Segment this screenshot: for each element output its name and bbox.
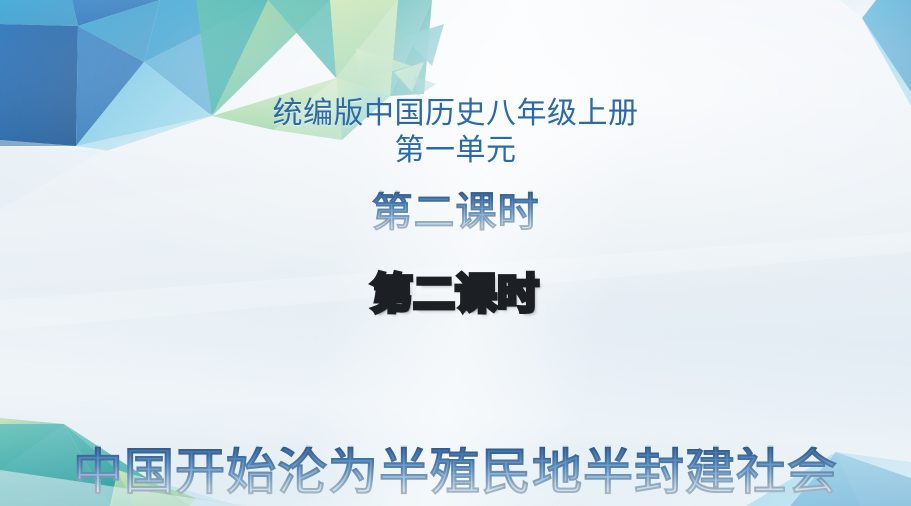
subtitle-textbook-line: 统编版中国历史八年级上册: [273, 97, 639, 132]
lesson-number-title-outline: 第二课时: [372, 274, 540, 315]
title-slide: 统编版中国历史八年级上册 第一单元 第二课时 第二课时 中国开始沦为半殖民地半封…: [0, 0, 911, 506]
main-title: 中国开始沦为半殖民地半封建社会 中国开始沦为半殖民地半封建社会: [73, 447, 838, 506]
slide-content: 统编版中国历史八年级上册 第一单元 第二课时 第二课时 中国开始沦为半殖民地半封…: [0, 0, 911, 506]
lesson-number-title: 第二课时 第二课时: [372, 192, 540, 438]
lesson-number-title-fill: 第二课时: [372, 192, 540, 233]
main-title-fill: 中国开始沦为半殖民地半封建社会: [73, 447, 838, 497]
subtitle-unit-line: 第一单元: [395, 134, 517, 169]
